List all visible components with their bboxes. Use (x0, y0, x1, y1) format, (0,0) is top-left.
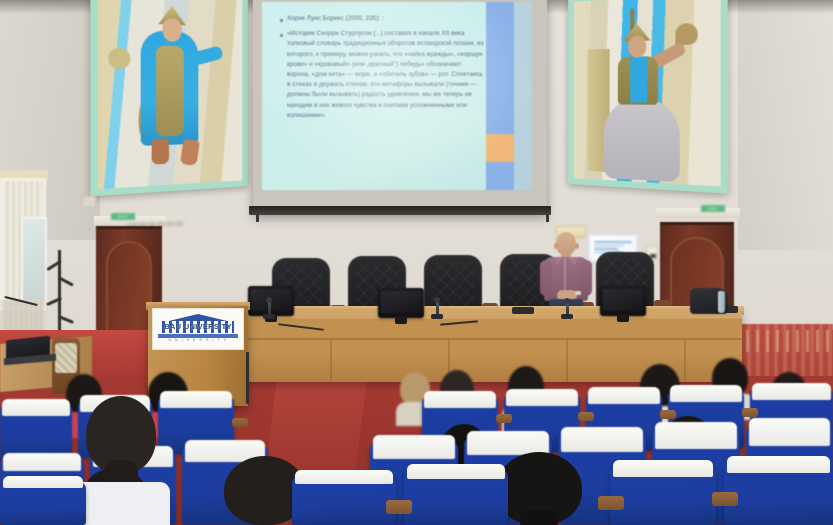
presidium-monitor-3[interactable] (600, 286, 646, 316)
seat-armrest (496, 414, 512, 423)
seat-row1-5[interactable] (724, 462, 833, 525)
window (0, 178, 46, 310)
exit-sign-left: EXIT (110, 212, 136, 221)
seat-armrest (578, 412, 594, 421)
radiator (2, 300, 44, 334)
seat-armrest (712, 492, 738, 506)
seat-armrest (232, 418, 248, 427)
door-lintel-right (656, 208, 740, 218)
speaker-wristwatch (575, 291, 581, 295)
presidium-monitor-2[interactable] (378, 288, 424, 318)
slide-accent-square (486, 134, 514, 162)
presidium-table-seam (232, 338, 742, 340)
seat-row1-3[interactable] (404, 470, 508, 525)
bullet-marker-icon (280, 34, 283, 37)
side-chair-upholstery (55, 343, 77, 373)
microphone-head-icon (434, 297, 440, 303)
university-logo-text: BAU UNIVERSITY (156, 322, 240, 331)
slide-bullet-2: «Историк Снорри Стурлусон [...] составил… (280, 29, 486, 121)
screen-bar-leg-right (546, 214, 549, 222)
speaker-ear (575, 243, 579, 249)
seat-armrest (660, 410, 676, 419)
carpet-border-pattern (726, 330, 833, 352)
window-glass (21, 217, 47, 303)
university-logo-subtext: U N I V E R S I T Y (156, 338, 240, 342)
speaker-arm-left (540, 260, 552, 296)
desk-device-1 (512, 307, 534, 314)
podium-banner: BAU UNIVERSITY U N I V E R S I T Y (152, 308, 244, 350)
monitor-stand (395, 316, 407, 324)
wall-mural-left (90, 0, 248, 196)
exit-sign-left-label: EXIT (118, 214, 128, 219)
slide-bullet-1-text: Хорхе Луис Борхес (2000, 335): : (287, 14, 384, 24)
projector-screen-bottom-bar (249, 206, 551, 215)
slide-stripe-outer (514, 2, 532, 190)
presidium-panel-divider (330, 340, 332, 382)
seat-row1-4[interactable] (610, 466, 716, 525)
presidium-panel-divider (684, 340, 686, 382)
screen-bar-leg-left (256, 214, 259, 222)
slide-text-body: Хорхе Луис Борхес (2000, 335): : «Истори… (280, 14, 486, 126)
microphone-head-icon (564, 298, 570, 304)
university-logo: BAU UNIVERSITY U N I V E R S I T Y (156, 313, 240, 345)
seat-row1-2[interactable] (292, 476, 396, 525)
speaker-arm-right (580, 260, 592, 296)
monitor-stand (617, 314, 629, 322)
projected-slide: Хорхе Луис Борхес (2000, 335): : «Истори… (262, 2, 532, 190)
water-bottle (718, 291, 725, 313)
microphone-base (431, 314, 443, 319)
podium-cable (246, 352, 249, 404)
seat-row1-1[interactable] (0, 482, 86, 525)
microphone-base (263, 314, 275, 319)
seat-armrest (386, 500, 412, 514)
slide-bullet-2-text: «Историк Снорри Стурлусон [...] составил… (287, 29, 486, 121)
microphone-head-icon (266, 297, 272, 303)
seat-armrest (598, 496, 624, 510)
exit-sign-right: EXIT (700, 204, 726, 213)
right-wall-panel (738, 0, 833, 250)
speaker-ear (554, 243, 558, 249)
utility-box-left (82, 196, 96, 208)
auditorium-photo: Хорхе Луис Борхес (2000, 335): : «Истори… (0, 0, 833, 525)
presidium-panel-divider (566, 340, 568, 382)
slide-bullet-1: Хорхе Луис Борхес (2000, 335): : (280, 14, 486, 24)
microphone-base (561, 314, 573, 319)
seat-armrest (742, 408, 758, 417)
wall-mural-right (568, 0, 728, 194)
bullet-marker-icon (280, 19, 283, 22)
exit-sign-right-label: EXIT (708, 206, 718, 211)
